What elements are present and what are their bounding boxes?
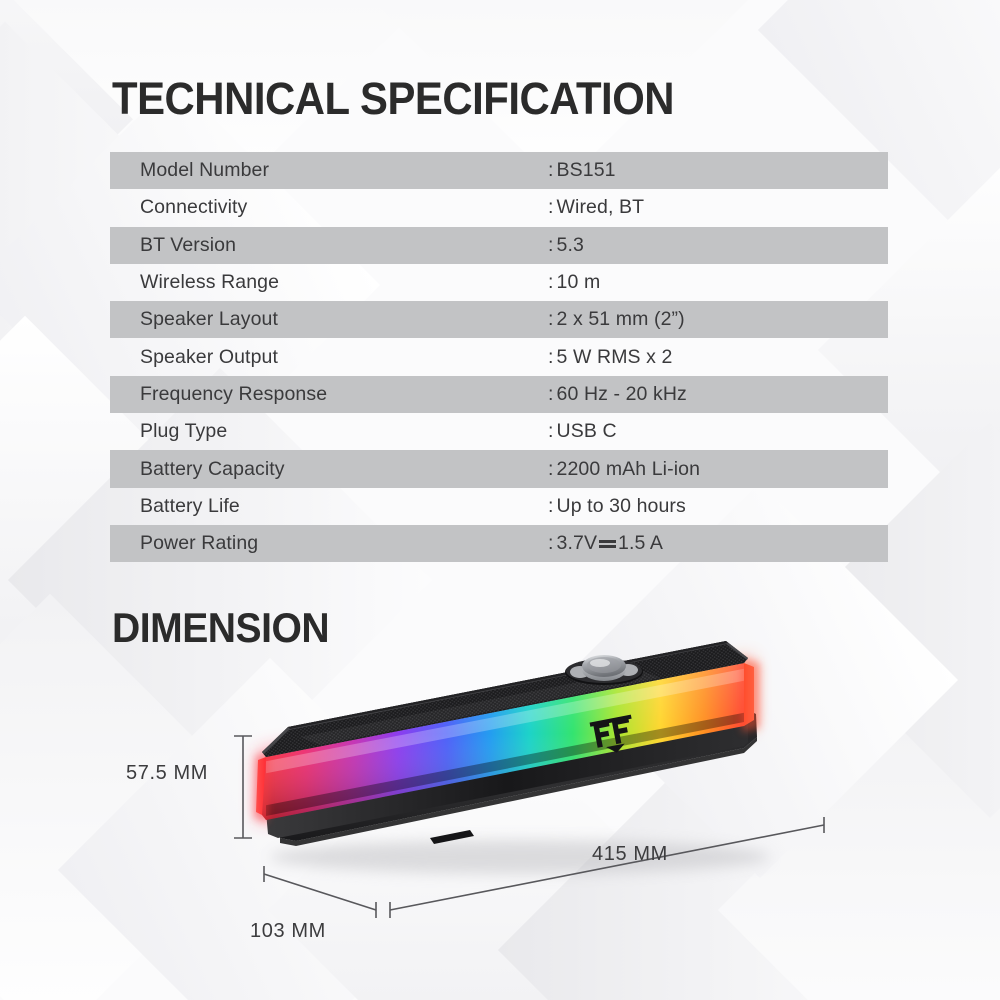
spec-value-prefix: 3.7V: [557, 532, 598, 554]
spec-label: Plug Type: [110, 420, 548, 443]
spec-colon: :: [548, 159, 554, 181]
mesh-front-rim: [262, 641, 748, 754]
spec-value: :5 W RMS x 2: [548, 346, 888, 369]
spec-value: :USB C: [548, 420, 888, 443]
spec-value-text: Wired, BT: [557, 196, 645, 218]
spec-value: :Wired, BT: [548, 196, 888, 219]
spec-label: Connectivity: [110, 196, 548, 219]
spec-value: :2 x 51 mm (2”): [548, 308, 888, 331]
table-row: Battery Capacity :2200 mAh Li-ion: [110, 450, 888, 487]
spec-label: Speaker Output: [110, 346, 548, 369]
spec-colon: :: [548, 495, 554, 517]
spec-value-text: 60 Hz - 20 kHz: [557, 383, 687, 405]
table-row: BT Version :5.3: [110, 227, 888, 264]
dc-current-icon: [599, 539, 616, 548]
knob-plate-highlight-left: [570, 666, 590, 678]
spec-value-text: USB C: [557, 420, 617, 442]
mesh-back-edge: [288, 641, 728, 729]
dimension-label-width: 103 MM: [250, 920, 326, 943]
spec-label: Model Number: [110, 159, 548, 182]
spec-colon: :: [548, 420, 554, 442]
product-shadow: [270, 840, 770, 874]
technical-specification-title: TECHNICAL SPECIFICATION: [112, 75, 674, 123]
product-foot: [430, 830, 474, 844]
spec-label: Speaker Layout: [110, 308, 548, 331]
spec-value-text: Up to 30 hours: [557, 495, 686, 517]
dimension-line-height: [234, 736, 252, 838]
product-bezel-strip: [266, 718, 748, 838]
table-row: Wireless Range :10 m: [110, 264, 888, 301]
left-end-cap: [254, 753, 268, 822]
right-end-cap: [742, 658, 760, 732]
knob-top: [582, 655, 626, 677]
spec-label: Battery Life: [110, 495, 548, 518]
spec-value-suffix: 1.5 A: [618, 532, 663, 554]
table-row: Model Number :BS151: [110, 152, 888, 189]
spec-value: :BS151: [548, 159, 888, 182]
table-row: Power Rating :3.7V1.5 A: [110, 525, 888, 562]
spec-colon: :: [548, 308, 554, 330]
table-row: Connectivity :Wired, BT: [110, 189, 888, 226]
spec-value: :Up to 30 hours: [548, 495, 888, 518]
specification-table: Model Number :BS151 Connectivity :Wired,…: [110, 152, 888, 562]
table-row: Frequency Response :60 Hz - 20 kHz: [110, 376, 888, 413]
spec-value: :3.7V1.5 A: [548, 532, 888, 555]
spec-label: Power Rating: [110, 532, 548, 555]
dimension-title: DIMENSION: [112, 605, 329, 650]
dimension-lines: [234, 736, 824, 918]
spec-value-text: 2 x 51 mm (2”): [557, 308, 685, 330]
dimension-label-length: 415 MM: [592, 843, 668, 866]
rgb-ambient-glow: [258, 658, 752, 822]
knob-specular: [590, 659, 610, 667]
spec-value-text: 2200 mAh Li-ion: [557, 458, 701, 480]
dimension-label-height: 57.5 MM: [126, 762, 208, 785]
table-row: Speaker Output :5 W RMS x 2: [110, 338, 888, 375]
dimension-line-length: [390, 817, 824, 918]
spec-colon: :: [548, 346, 554, 368]
spec-value: :60 Hz - 20 kHz: [548, 383, 888, 406]
product-base: [276, 707, 757, 841]
spec-colon: :: [548, 458, 554, 480]
spec-colon: :: [548, 532, 554, 554]
speaker-mesh-grille: [262, 641, 748, 757]
spec-colon: :: [548, 234, 554, 256]
dimension-line-width: [264, 866, 376, 918]
knob-ring: [582, 659, 626, 681]
spec-label: BT Version: [110, 234, 548, 257]
table-row: Plug Type :USB C: [110, 413, 888, 450]
spec-value: :5.3: [548, 234, 888, 257]
spec-colon: :: [548, 196, 554, 218]
product-base-shadow-edge: [280, 737, 757, 846]
spec-value-text: 10 m: [557, 271, 601, 293]
knob-recess: [565, 659, 643, 685]
spec-value: :2200 mAh Li-ion: [548, 458, 888, 481]
table-row: Battery Life :Up to 30 hours: [110, 488, 888, 525]
spec-colon: :: [548, 383, 554, 405]
fantech-logo: [590, 715, 638, 757]
spec-label: Wireless Range: [110, 271, 548, 294]
spec-label: Frequency Response: [110, 383, 548, 406]
knob-plate-highlight-right: [618, 664, 638, 676]
table-row: Speaker Layout :2 x 51 mm (2”): [110, 301, 888, 338]
spec-label: Battery Capacity: [110, 458, 548, 481]
spec-value-text: 5 W RMS x 2: [557, 346, 673, 368]
spec-value-text: 5.3: [557, 234, 584, 256]
spec-value-text: BS151: [557, 159, 616, 181]
spec-value: :10 m: [548, 271, 888, 294]
rgb-light-panel: [262, 663, 748, 820]
spec-colon: :: [548, 271, 554, 293]
volume-knob: [565, 655, 643, 685]
